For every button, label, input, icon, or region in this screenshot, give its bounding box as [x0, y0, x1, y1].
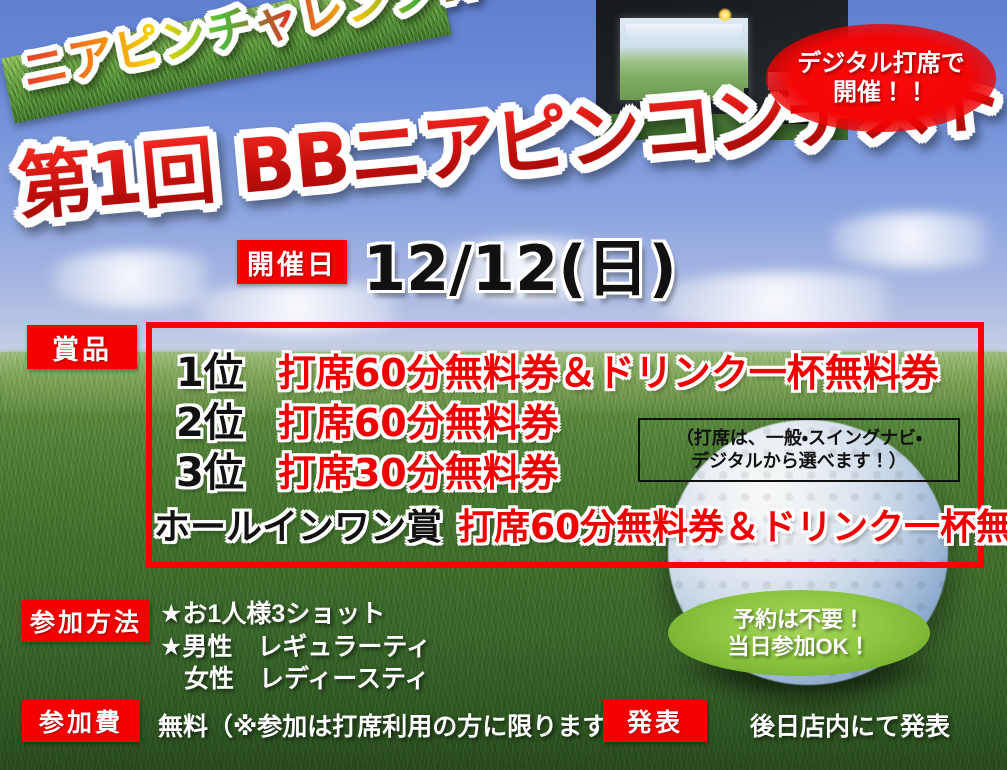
event-date-label: 開催日	[237, 240, 347, 284]
announcement-value: 後日店内にて発表	[750, 707, 950, 743]
announcement-label: 発表	[603, 700, 707, 742]
join-method-label: 参加方法	[22, 600, 150, 642]
walk-in-badge-line2: 当日参加OK！	[727, 633, 870, 661]
walk-in-badge-line1: 予約は不要！	[733, 606, 865, 634]
join-method-line2: ★男性 レギュラーティ	[160, 631, 431, 664]
prize-note-line2: デジタルから選べます！）	[691, 450, 907, 473]
prize-note-line1: （打席は、一般・スイングナビ・	[676, 427, 922, 450]
fee-label: 参加費	[22, 700, 140, 742]
prize-description: 打席60分無料券	[278, 392, 559, 447]
digital-bay-badge: デジタル打席で 開催！！	[766, 24, 996, 132]
prize-rank: 3位	[176, 440, 244, 498]
prize-rank: ホールインワン賞	[154, 498, 442, 550]
digital-bay-badge-line2: 開催！！	[833, 78, 929, 107]
prize-description: 打席30分無料券	[278, 442, 559, 497]
prize-label: 賞品	[27, 325, 137, 369]
prize-row: ホールインワン賞 打席60分無料券＆ドリンク一杯無料券	[154, 498, 1007, 550]
event-date-value: 12/12(日)	[363, 218, 677, 308]
join-method-line3: 女性 レディースティ	[160, 663, 431, 696]
prize-description: 打席60分無料券＆ドリンク一杯無料券	[278, 342, 939, 397]
prize-description: 打席60分無料券＆ドリンク一杯無料券	[458, 498, 1007, 550]
prize-note-box: （打席は、一般・スイングナビ・ デジタルから選べます！）	[638, 418, 960, 482]
digital-bay-badge-line1: デジタル打席で	[797, 49, 965, 78]
projector-light-icon	[718, 8, 732, 22]
poster-canvas: ニアピンチャレンジ!! 第1回 BBニアピンコンテスト デジタル打席で 開催！！…	[0, 0, 1007, 770]
cloud-shape	[820, 212, 1007, 268]
join-method-lines: ★お1人様3ショット ★男性 レギュラーティ 女性 レディースティ	[160, 598, 431, 696]
join-method-line1: ★お1人様3ショット	[160, 598, 431, 631]
walk-in-badge: 予約は不要！ 当日参加OK！	[668, 590, 930, 676]
fee-value: 無料（※参加は打席利用の方に限ります）	[158, 707, 632, 743]
prize-row: 3位 打席30分無料券	[176, 440, 559, 498]
